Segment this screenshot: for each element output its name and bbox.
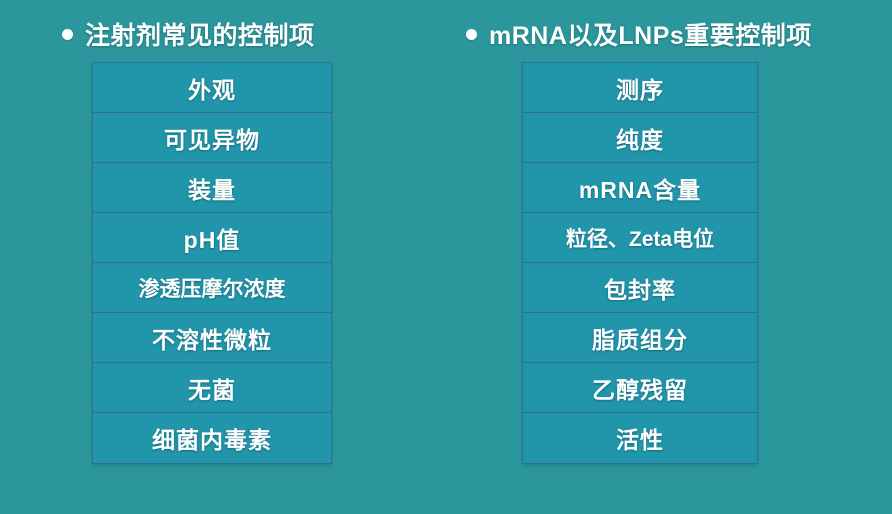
list-item[interactable]: pH值 [93,213,331,263]
list-item[interactable]: 无菌 [93,363,331,413]
list-item-label: 包封率 [604,271,676,305]
list-item[interactable]: 乙醇残留 [523,363,757,413]
list-item-label: pH值 [184,221,241,255]
list-item-label: 细菌内毒素 [152,421,272,455]
list-item[interactable]: 细菌内毒素 [93,413,331,463]
list-item[interactable]: 粒径、Zeta电位 [523,213,757,263]
list-item-label: 渗透压摩尔浓度 [139,273,286,303]
column-heading-left: 注射剂常见的控制项 [62,14,352,54]
list-item-label: 测序 [616,71,664,105]
list-item-label: 不溶性微粒 [152,321,272,355]
slide-root: 注射剂常见的控制项 外观 可见异物 装量 pH值 渗透压摩尔浓度 [0,0,892,514]
list-item-label: mRNA含量 [579,171,701,205]
column-heading-right: mRNA以及LNPs重要控制项 [466,14,766,54]
list-item[interactable]: 不溶性微粒 [93,313,331,363]
comparison-columns: 注射剂常见的控制项 外观 可见异物 装量 pH值 渗透压摩尔浓度 [0,0,892,514]
list-item-label: 乙醇残留 [592,371,688,405]
column-mrna-lnp-controls: mRNA以及LNPs重要控制项 测序 纯度 mRNA含量 粒径、Zeta电位 包… [466,14,766,464]
list-item[interactable]: 装量 [93,163,331,213]
list-item-label: 无菌 [188,371,236,405]
bullet-dot-icon [62,29,73,40]
list-item[interactable]: 脂质组分 [523,313,757,363]
list-item[interactable]: 活性 [523,413,757,463]
list-item-label: 粒径、Zeta电位 [566,223,714,253]
list-box-left: 外观 可见异物 装量 pH值 渗透压摩尔浓度 不溶性微粒 无菌 [92,62,332,464]
column-heading-right-label: mRNA以及LNPs重要控制项 [489,16,812,52]
list-box-right: 测序 纯度 mRNA含量 粒径、Zeta电位 包封率 脂质组分 [522,62,758,464]
list-item-label: 活性 [616,421,664,455]
list-item[interactable]: mRNA含量 [523,163,757,213]
list-item[interactable]: 包封率 [523,263,757,313]
list-item[interactable]: 外观 [93,63,331,113]
bullet-dot-icon [466,29,477,40]
list-item[interactable]: 渗透压摩尔浓度 [93,263,331,313]
list-item-label: 装量 [188,171,236,205]
column-heading-left-label: 注射剂常见的控制项 [85,16,315,52]
list-item-label: 可见异物 [164,121,260,155]
list-item[interactable]: 可见异物 [93,113,331,163]
list-item-label: 脂质组分 [592,321,688,355]
list-item[interactable]: 纯度 [523,113,757,163]
column-injection-controls: 注射剂常见的控制项 外观 可见异物 装量 pH值 渗透压摩尔浓度 [62,14,352,464]
list-item[interactable]: 测序 [523,63,757,113]
list-item-label: 外观 [188,71,236,105]
list-item-label: 纯度 [616,121,664,155]
